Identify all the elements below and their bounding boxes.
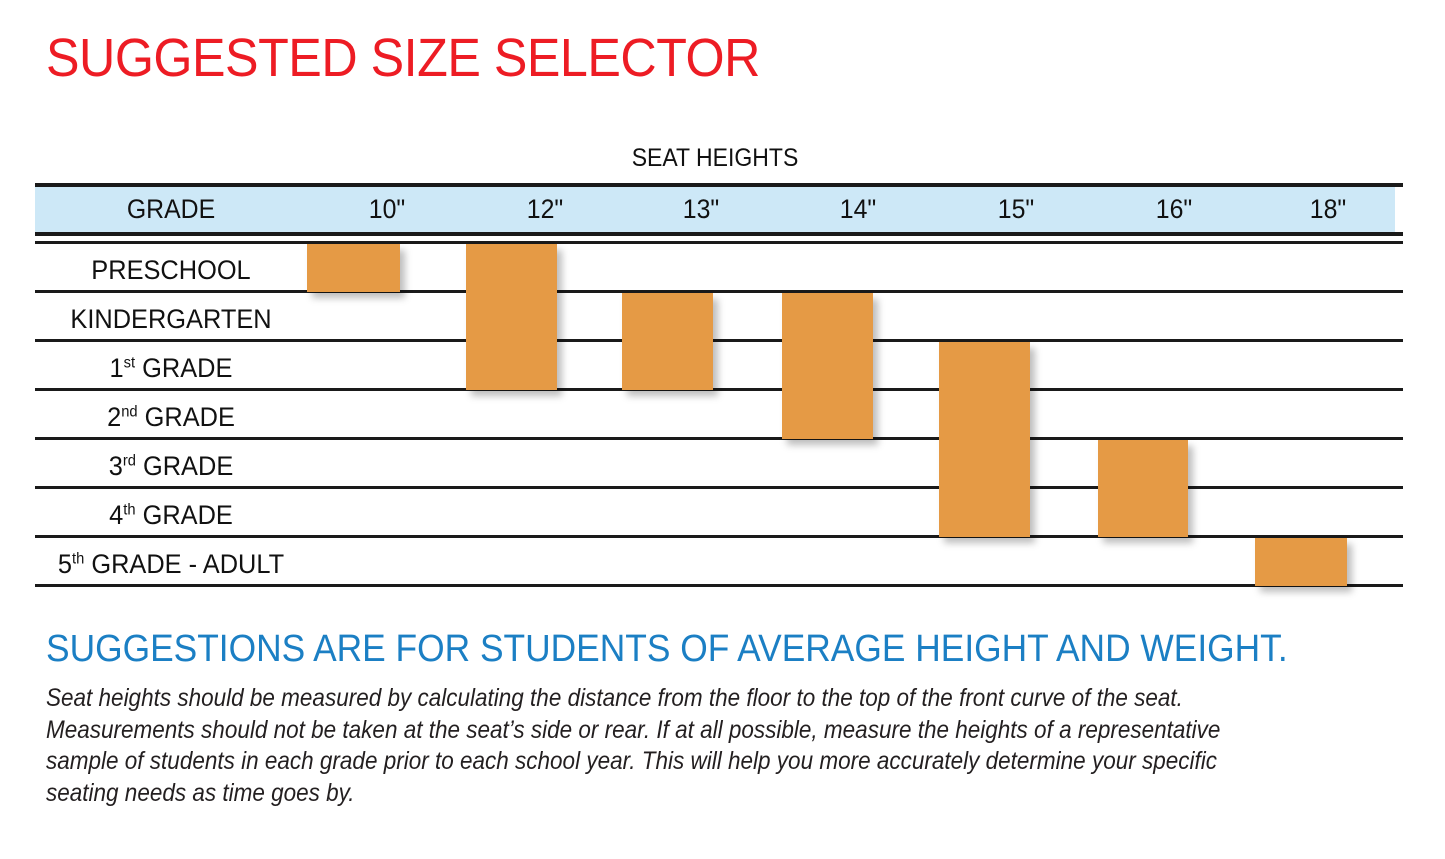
- measurement-note: Seat heights should be measured by calcu…: [46, 683, 1252, 809]
- grade-row-2nd-grade: 2nd GRADE: [43, 402, 299, 432]
- bar-12in-preschool-to-1st: [466, 244, 557, 390]
- column-header-13in: 13": [629, 192, 773, 226]
- column-header-14in: 14": [785, 192, 930, 226]
- column-header-grade: GRADE: [46, 192, 296, 226]
- measurement-note-line-3: sample of students in each grade prior t…: [46, 746, 1252, 778]
- grade-row-5th-grade-adult: 5th GRADE - ADULT: [35, 549, 308, 579]
- grade-row-preschool: PRESCHOOL: [43, 255, 299, 285]
- column-header-12in: 12": [473, 192, 617, 226]
- grade-row-4th-grade: 4th GRADE: [43, 500, 299, 530]
- seat-heights-caption: SEAT HEIGHTS: [89, 143, 1340, 173]
- bar-10in-preschool: [307, 244, 400, 292]
- column-header-18in: 18": [1259, 192, 1397, 226]
- row-rule-5: [35, 486, 1403, 489]
- grade-row-3rd-grade: 3rd GRADE: [43, 451, 299, 481]
- bar-13in-kindergarten-to-1st: [622, 293, 713, 390]
- grade-row-kindergarten: KINDERGARTEN: [35, 304, 308, 334]
- bar-14in-kindergarten-to-2nd: [782, 293, 873, 439]
- row-rule-3: [35, 388, 1403, 391]
- column-header-16in: 16": [1101, 192, 1246, 226]
- table-header-bottom-rule: [35, 232, 1403, 236]
- grade-row-1st-grade: 1st GRADE: [43, 353, 299, 383]
- measurement-note-line-2: Measurements should not be taken at the …: [46, 715, 1252, 747]
- row-rule-6: [35, 535, 1403, 538]
- row-rule-2: [35, 339, 1403, 342]
- column-header-15in: 15": [943, 192, 1088, 226]
- measurement-note-line-1: Seat heights should be measured by calcu…: [46, 683, 1252, 715]
- page-title: SUGGESTED SIZE SELECTOR: [46, 27, 760, 89]
- headline-average-height-weight: SUGGESTIONS ARE FOR STUDENTS OF AVERAGE …: [46, 627, 1288, 672]
- row-rule-7: [35, 584, 1403, 587]
- row-rule-4: [35, 437, 1403, 440]
- column-header-10in: 10": [313, 192, 460, 226]
- row-rule-1: [35, 290, 1403, 293]
- row-rule-0: [35, 241, 1403, 244]
- measurement-note-line-4: seating needs as time goes by.: [46, 778, 1252, 810]
- bar-15in-1st-to-4th: [939, 342, 1030, 537]
- bar-16in-3rd-to-4th: [1098, 440, 1188, 537]
- bar-18in-5th-adult: [1255, 538, 1347, 586]
